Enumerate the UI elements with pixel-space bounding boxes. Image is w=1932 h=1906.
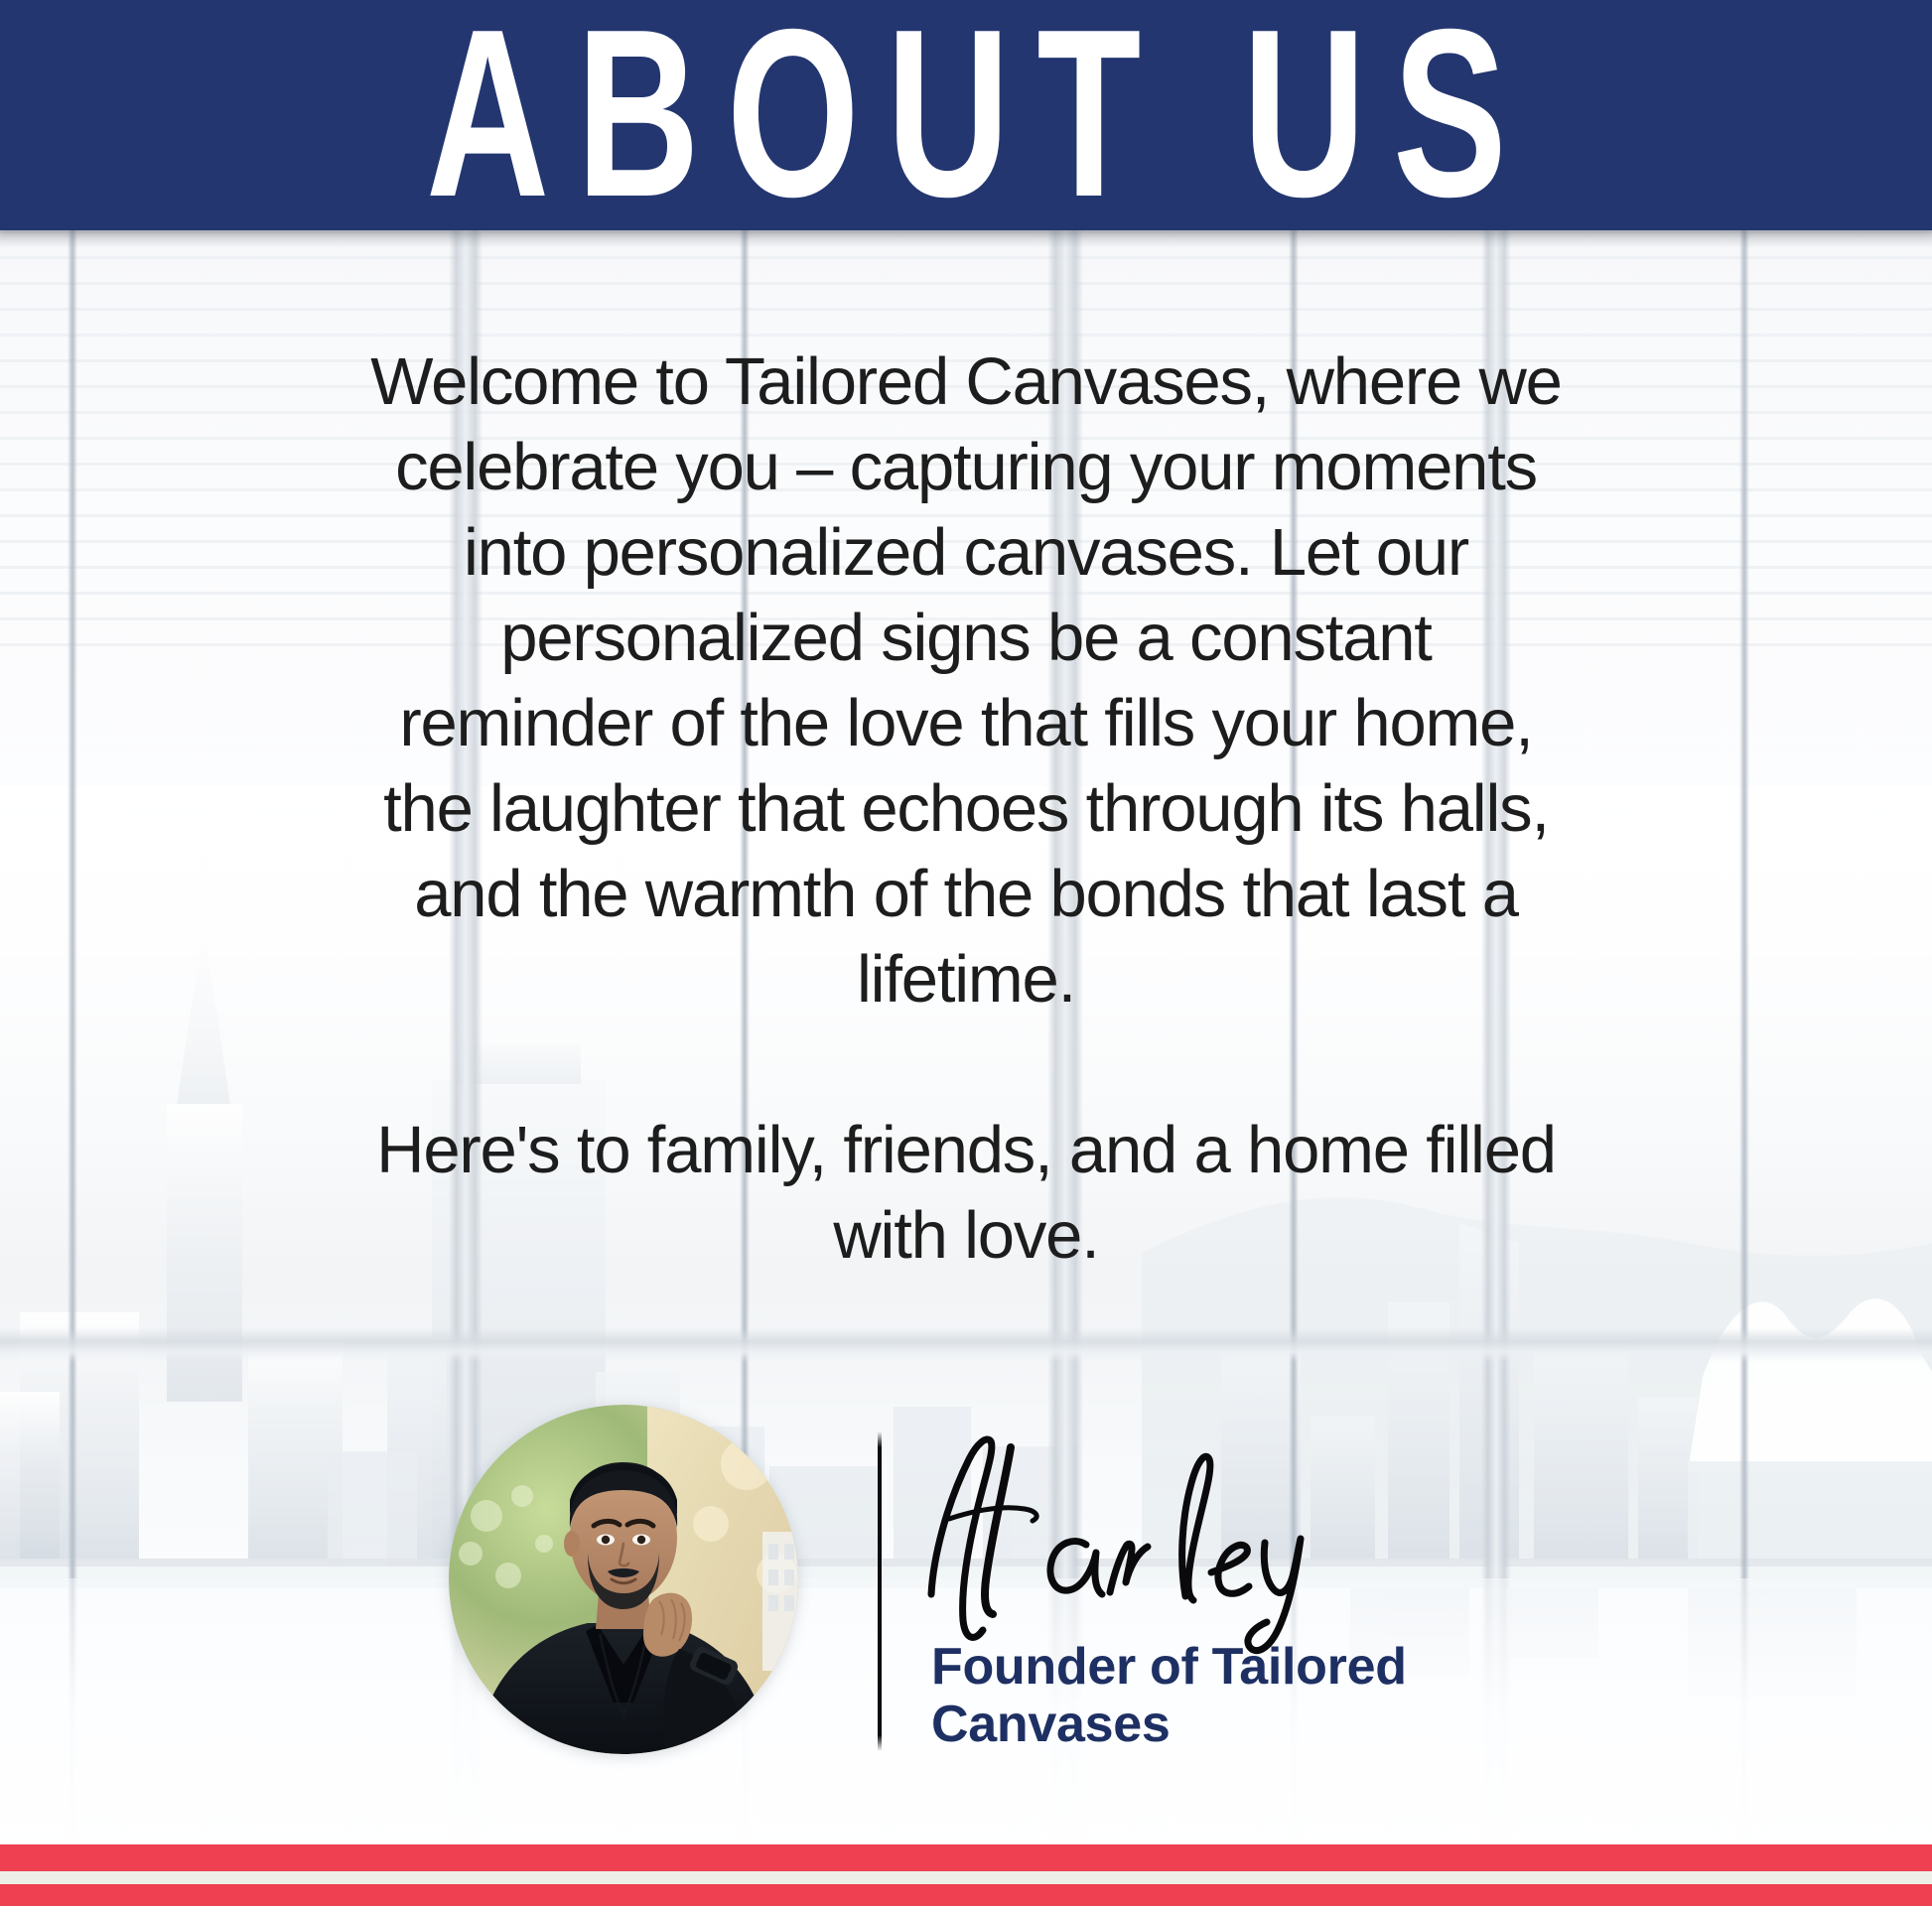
banner-drop-shadow bbox=[0, 230, 1932, 248]
footer-stripe-top bbox=[0, 1844, 1932, 1871]
founder-divider bbox=[878, 1431, 882, 1751]
window-sill bbox=[0, 1328, 1932, 1362]
founder-avatar bbox=[449, 1405, 798, 1754]
footer-stripe-gap bbox=[0, 1871, 1932, 1884]
founder-title: Founder of Tailored Canvases bbox=[931, 1638, 1567, 1753]
footer-stripe-bottom bbox=[0, 1884, 1932, 1906]
about-us-poster: ABOUT US Welcome to Tailored Canvases, w… bbox=[0, 0, 1932, 1906]
header-banner: ABOUT US bbox=[0, 0, 1932, 230]
about-us-copy: Welcome to Tailored Canvases, where we c… bbox=[370, 340, 1562, 1279]
copy-paragraph-1: Welcome to Tailored Canvases, where we c… bbox=[370, 340, 1562, 1022]
copy-paragraph-2: Here's to family, friends, and a home fi… bbox=[370, 1108, 1562, 1279]
page-title: ABOUT US bbox=[398, 0, 1533, 231]
paragraph-spacer bbox=[370, 1022, 1562, 1108]
